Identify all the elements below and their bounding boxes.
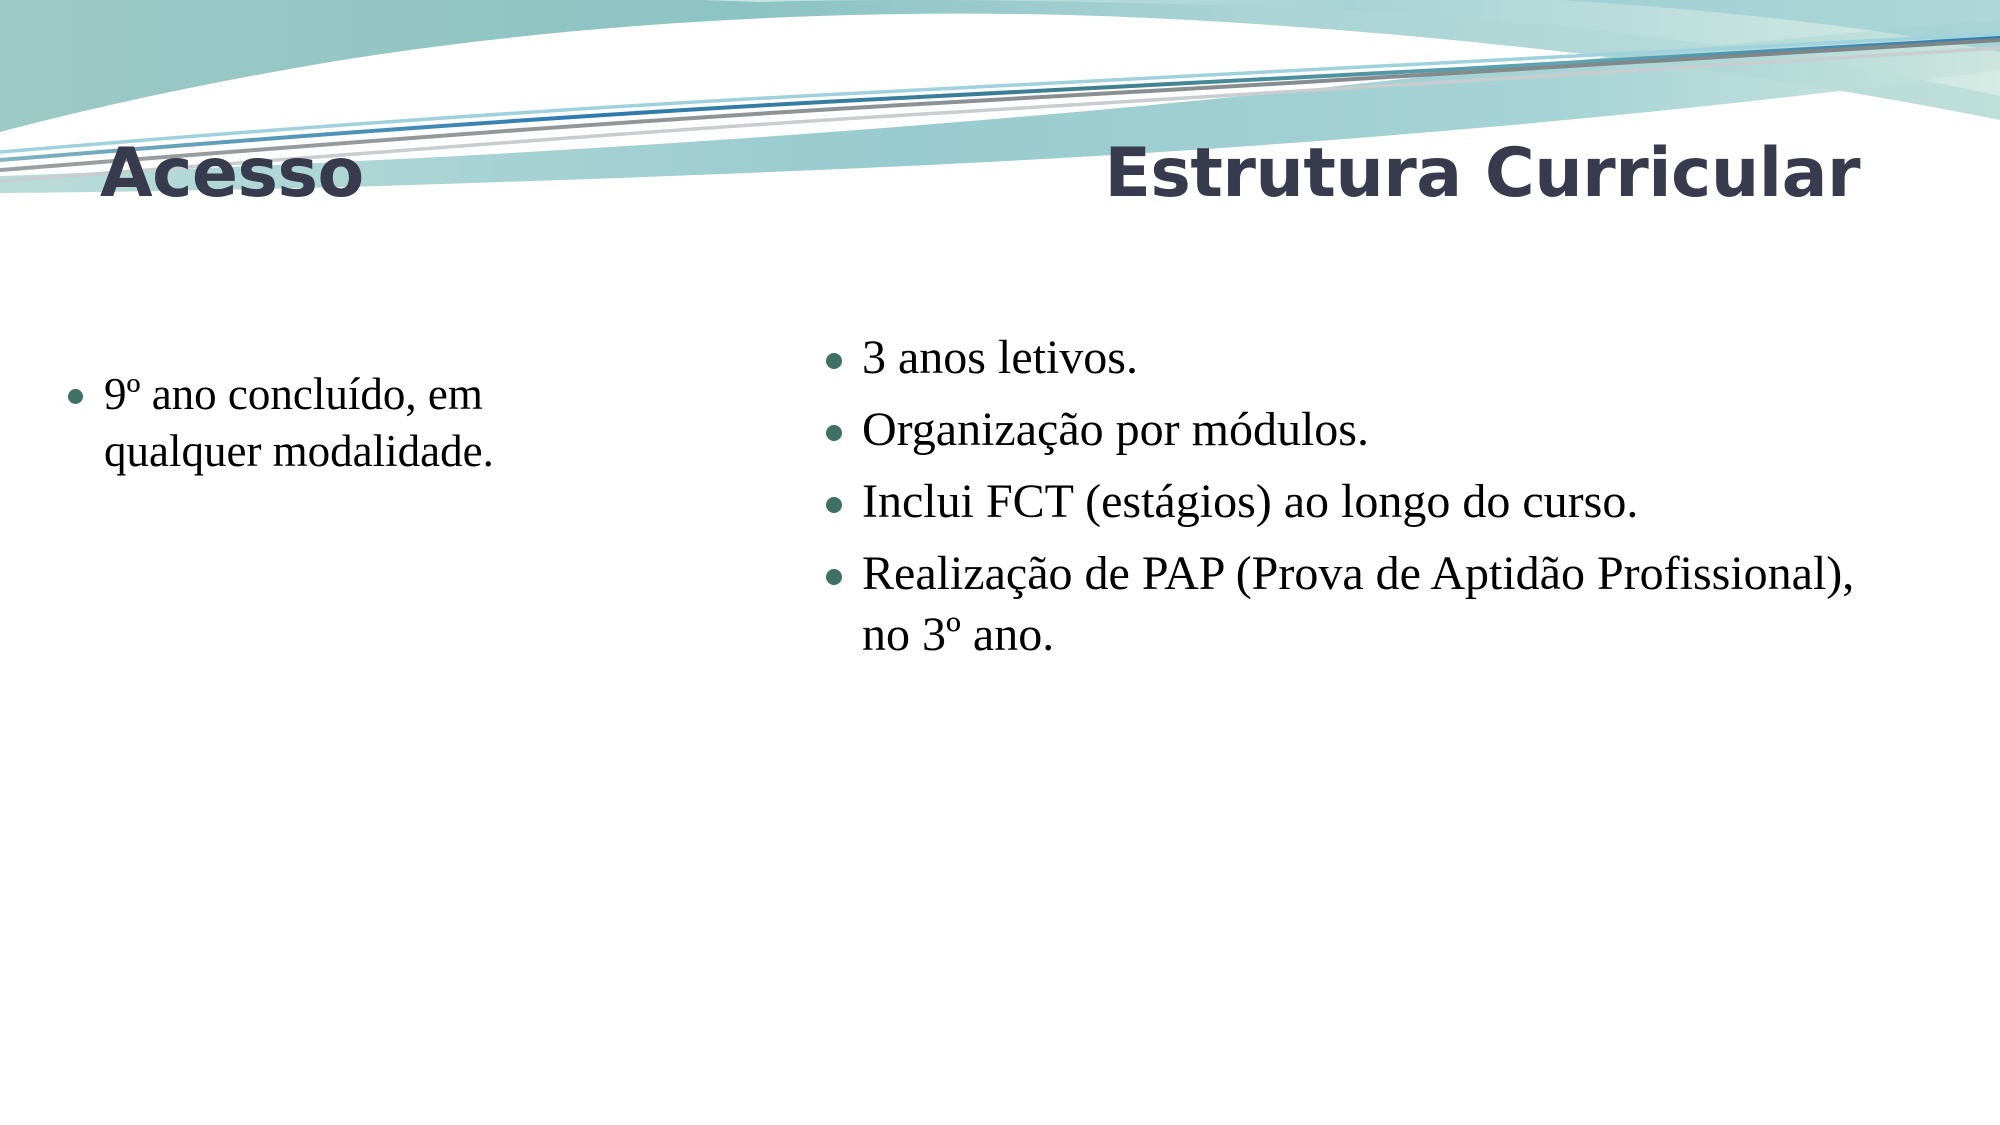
list-item-text: 9º ano concluído, em qualquer modalidade… xyxy=(104,369,494,476)
list-item: 9º ano concluído, em qualquer modalidade… xyxy=(58,366,598,480)
list-item: 3 anos letivos. xyxy=(818,328,1908,389)
right-column-title: Estrutura Curricular xyxy=(800,138,1860,209)
left-bullet-list: 9º ano concluído, em qualquer modalidade… xyxy=(58,366,598,480)
bullet-dot-icon xyxy=(826,569,842,585)
list-item-text: Organização por módulos. xyxy=(862,403,1369,456)
list-item: Organização por módulos. xyxy=(818,400,1908,461)
bullet-dot-icon xyxy=(68,389,83,404)
bullet-dot-icon xyxy=(826,425,842,441)
left-column-body: 9º ano concluído, em qualquer modalidade… xyxy=(58,366,598,490)
list-item: Inclui FCT (estágios) ao longo do curso. xyxy=(818,472,1908,533)
list-item-text: Realização de PAP (Prova de Aptidão Prof… xyxy=(862,547,1854,661)
list-item: Realização de PAP (Prova de Aptidão Prof… xyxy=(818,544,1908,666)
left-column-title: Acesso xyxy=(100,138,364,209)
list-item-text: Inclui FCT (estágios) ao longo do curso. xyxy=(862,475,1638,528)
bullet-dot-icon xyxy=(826,353,842,369)
right-column-body: 3 anos letivos. Organização por módulos.… xyxy=(818,328,1908,677)
list-item-text: 3 anos letivos. xyxy=(862,331,1138,384)
right-bullet-list: 3 anos letivos. Organização por módulos.… xyxy=(818,328,1908,666)
bullet-dot-icon xyxy=(826,497,842,513)
slide-canvas: Acesso Estrutura Curricular 9º ano concl… xyxy=(0,0,2000,1125)
